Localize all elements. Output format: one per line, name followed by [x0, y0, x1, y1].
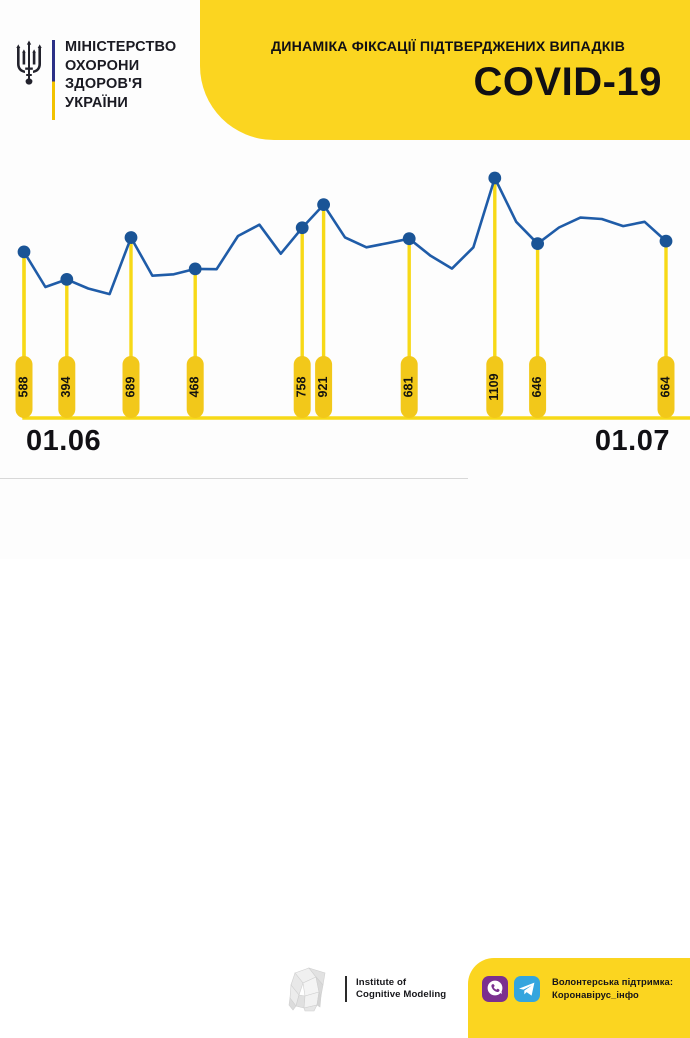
logo-divider [52, 40, 55, 120]
data-point-marker[interactable] [317, 198, 330, 211]
support-line-1: Волонтерська підтримка: [552, 976, 673, 989]
value-label: 588 [16, 377, 30, 398]
ukraine-trident-icon [14, 40, 44, 86]
data-point-marker[interactable] [403, 232, 416, 245]
stem-group [24, 178, 666, 418]
data-line [24, 178, 666, 294]
axis-start-date: 01.06 [26, 425, 101, 458]
viber-icon[interactable] [482, 976, 508, 1002]
ministry-line-1: МІНІСТЕРСТВО [65, 38, 176, 57]
institute-line-1: Institute of [356, 977, 446, 989]
support-line-2: Коронавірус_інфо [552, 989, 673, 1002]
footer: Institute of Cognitive Modeling [0, 479, 690, 559]
value-label: 664 [658, 377, 672, 398]
infographic-page: ДИНАМІКА ФІКСАЦІЇ ПІДТВЕРДЖЕНИХ ВИПАДКІВ… [0, 0, 690, 559]
covid-line-chart: 5883946894687589216811109646664 [0, 150, 690, 440]
value-label: 394 [59, 377, 73, 398]
value-label: 758 [294, 377, 308, 398]
data-point-marker[interactable] [488, 172, 501, 185]
data-point-marker[interactable] [18, 245, 31, 258]
data-point-marker[interactable] [296, 221, 309, 234]
page-title: ДИНАМІКА ФІКСАЦІЇ ПІДТВЕРДЖЕНИХ ВИПАДКІВ [224, 40, 672, 56]
viber-glyph [482, 976, 508, 1002]
chart-area: 5883946894687589216811109646664 [0, 150, 690, 440]
header-panel: ДИНАМІКА ФІКСАЦІЇ ПІДТВЕРДЖЕНИХ ВИПАДКІВ… [200, 0, 690, 140]
data-point-marker[interactable] [125, 231, 138, 244]
ministry-logo: МІНІСТЕРСТВО ОХОРОНИ ЗДОРОВ'Я УКРАЇНИ [14, 38, 176, 120]
value-label: 921 [316, 377, 330, 398]
ministry-line-4: УКРАЇНИ [65, 94, 176, 113]
institute-credit: Institute of Cognitive Modeling [283, 965, 446, 1013]
ministry-line-3: ЗДОРОВ'Я [65, 75, 176, 94]
institute-line-2: Cognitive Modeling [356, 989, 446, 1001]
support-panel: Волонтерська підтримка: Коронавірус_інфо [468, 958, 690, 1038]
data-point-marker[interactable] [189, 262, 202, 275]
origami-elephant-icon [283, 965, 339, 1013]
value-label-group: 5883946894687589216811109646664 [16, 356, 675, 418]
marker-group [18, 172, 673, 286]
support-text: Волонтерська підтримка: Коронавірус_інфо [552, 976, 673, 1001]
value-label: 646 [530, 377, 544, 398]
value-label: 468 [187, 377, 201, 398]
telegram-icon[interactable] [514, 976, 540, 1002]
value-label: 681 [401, 377, 415, 398]
axis-date-row: 01.06 01.07 [0, 425, 690, 467]
axis-end-date: 01.07 [595, 425, 670, 458]
data-point-marker[interactable] [531, 237, 544, 250]
telegram-glyph [514, 976, 540, 1002]
support-inner: Волонтерська підтримка: Коронавірус_інфо [482, 976, 673, 1002]
value-label: 689 [123, 377, 137, 398]
ministry-line-2: ОХОРОНИ [65, 57, 176, 76]
page-subject: COVID-19 [224, 62, 676, 102]
value-label: 1109 [487, 373, 501, 400]
institute-divider [345, 976, 347, 1002]
data-point-marker[interactable] [60, 273, 73, 286]
institute-name: Institute of Cognitive Modeling [356, 977, 446, 1002]
ministry-name: МІНІСТЕРСТВО ОХОРОНИ ЗДОРОВ'Я УКРАЇНИ [65, 38, 176, 112]
data-point-marker[interactable] [660, 235, 673, 248]
